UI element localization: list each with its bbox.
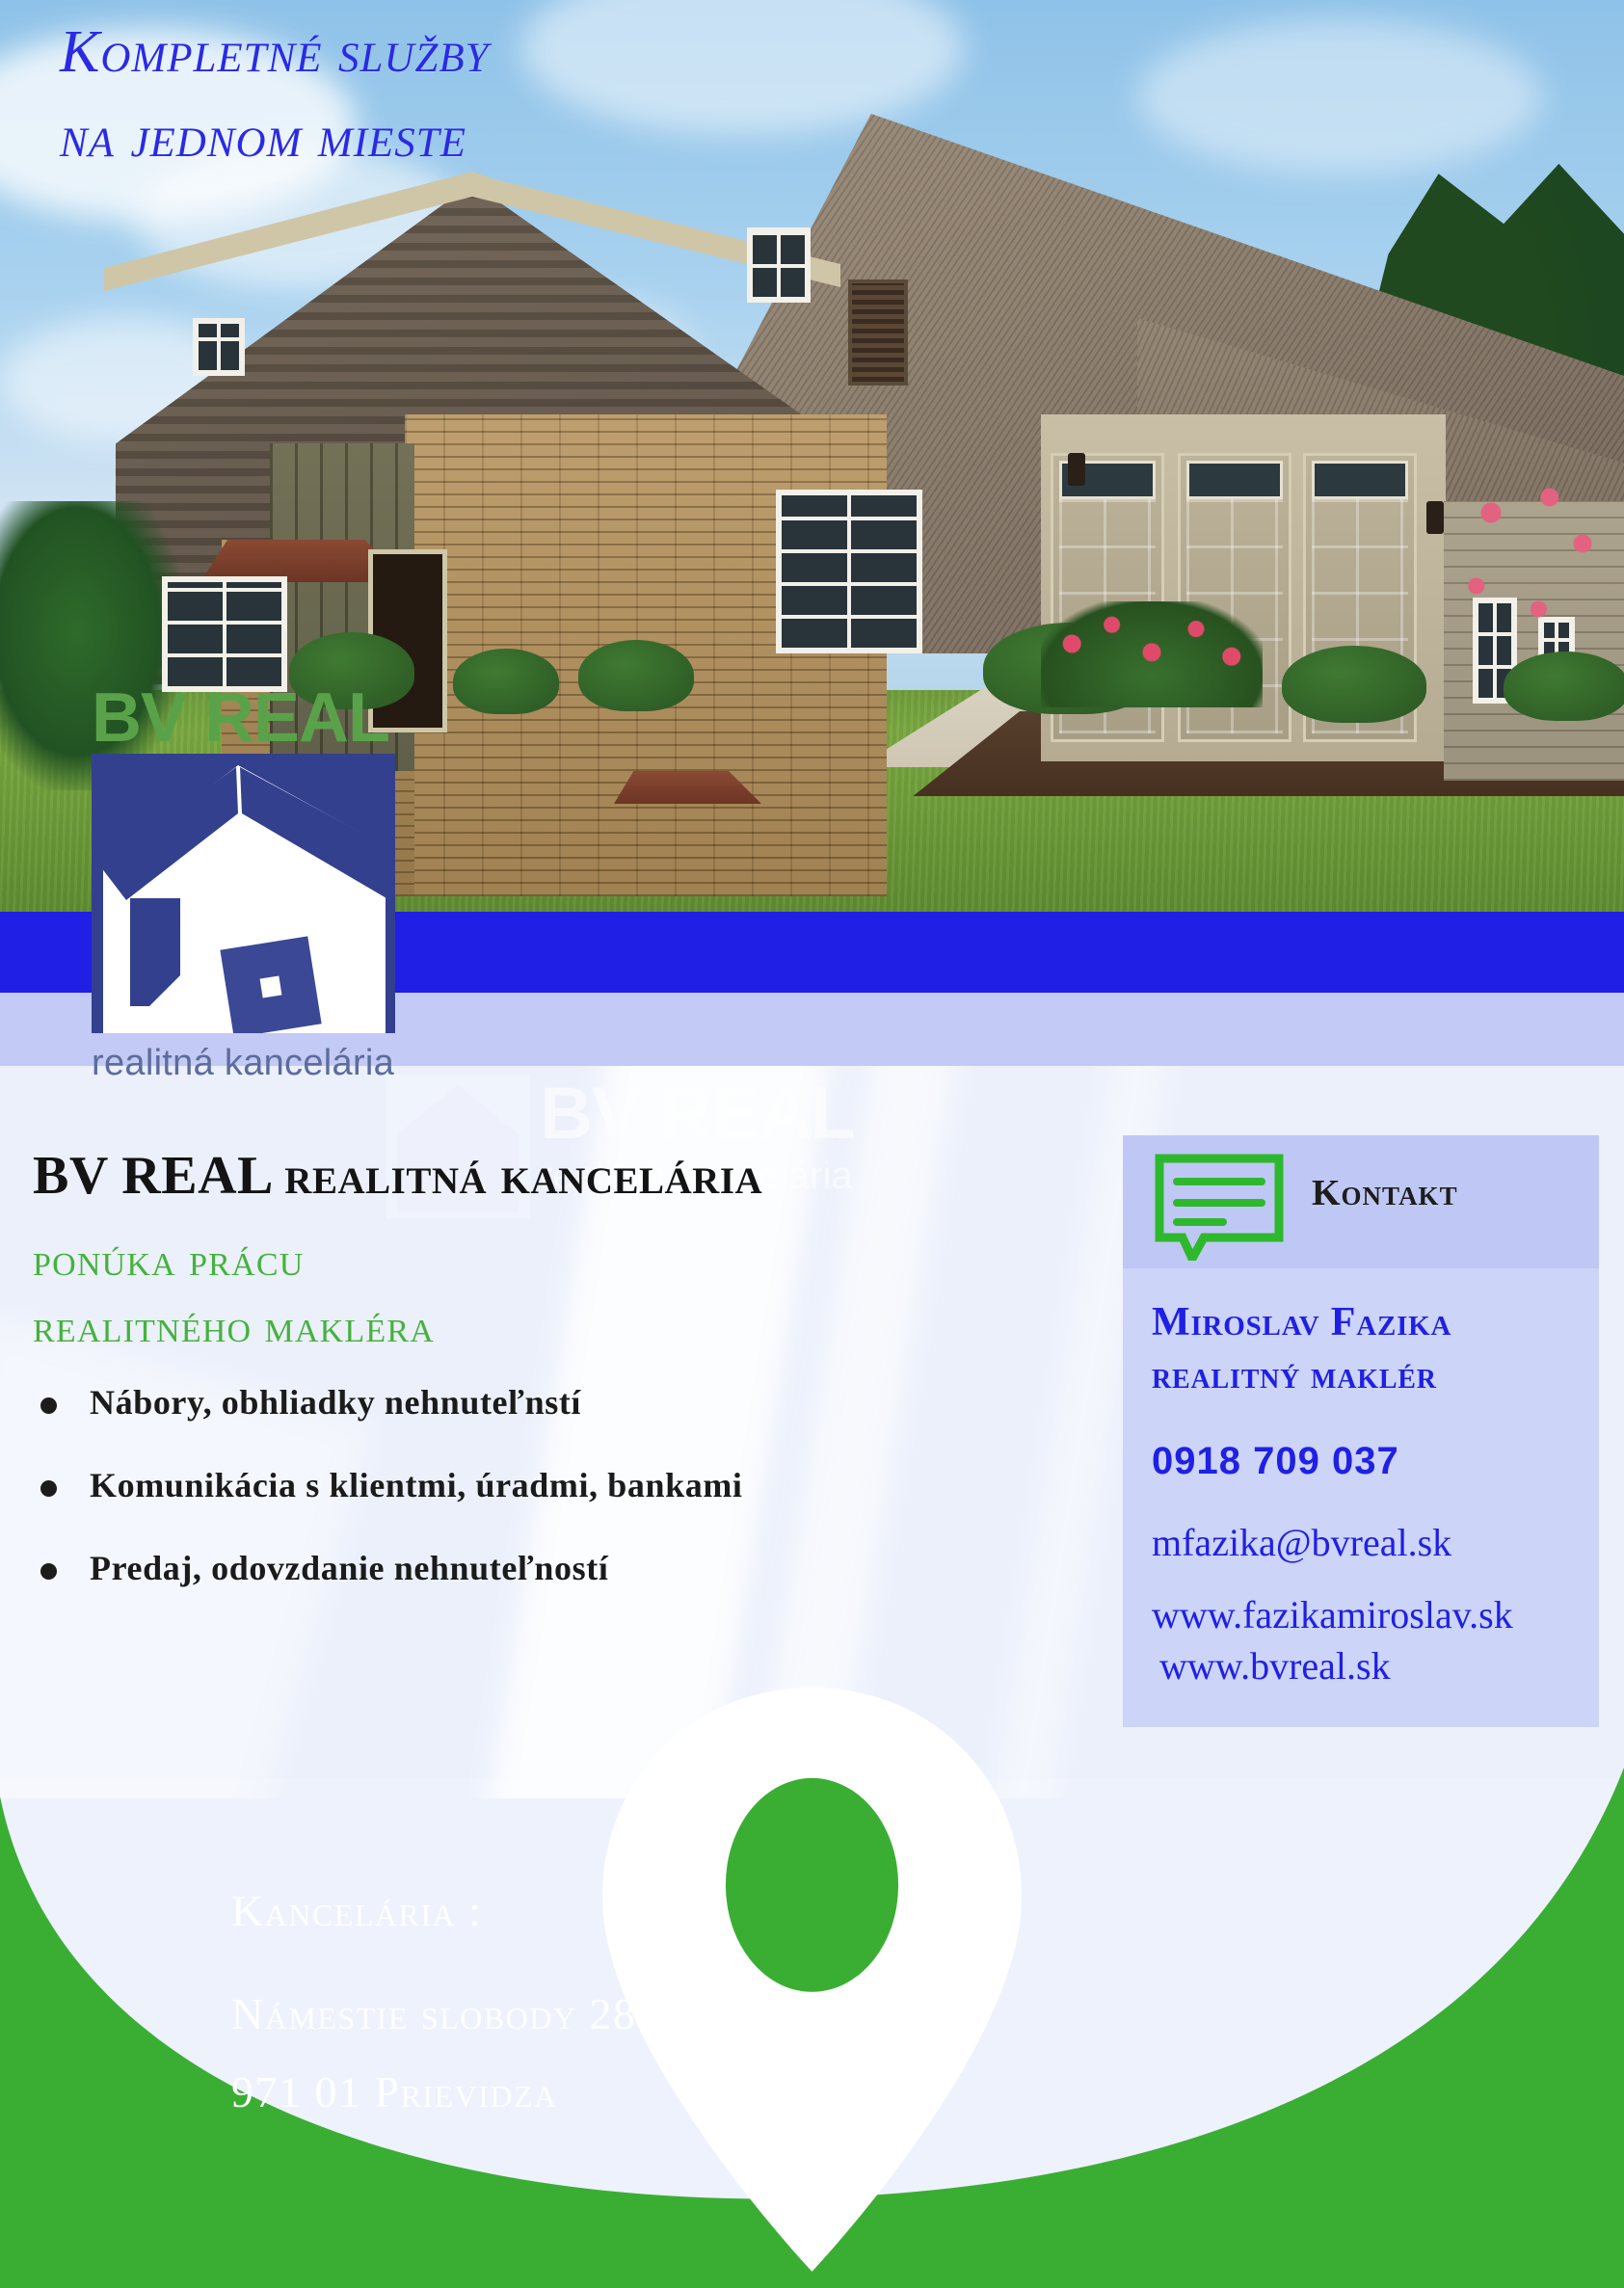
agent-website-2[interactable]: www.bvreal.sk	[1152, 1643, 1570, 1689]
list-item-label: Komunikácia s klientmi, úradmi, bankami	[90, 1465, 743, 1505]
garage-window	[1186, 461, 1283, 499]
office-street: Námestie slobody 28	[231, 1988, 637, 2039]
agent-role: realitný maklér	[1152, 1352, 1570, 1397]
logo-wordmark: BV REAL	[92, 686, 400, 750]
agent-phone[interactable]: 0918 709 037	[1152, 1440, 1570, 1483]
dormer-window	[193, 318, 245, 376]
offer-heading: BV REAL realitná kancelária	[33, 1147, 1103, 1207]
list-item: Nábory, obhliadky nehnuteľnstí	[33, 1382, 1103, 1423]
company-logo: BV REAL realitná kancelária	[92, 686, 400, 1084]
contact-card: Kontakt Miroslav Fazika realitný maklér …	[1123, 1135, 1599, 1727]
contact-card-header: Kontakt	[1123, 1135, 1599, 1268]
headline: Kompletné služby na jednom mieste	[60, 10, 490, 179]
duties-list: Nábory, obhliadky nehnuteľnstí Komunikác…	[33, 1382, 1103, 1588]
offer-line-1: ponúka prácu	[33, 1230, 1103, 1290]
agent-website-1[interactable]: www.fazikamiroslav.sk	[1152, 1592, 1570, 1637]
list-item: Komunikácia s klientmi, úradmi, bankami	[33, 1465, 1103, 1505]
list-item: Predaj, odovzdanie nehnuteľností	[33, 1548, 1103, 1588]
headline-line-1: Kompletné služby	[60, 10, 490, 94]
flyer-page: Kompletné služby na jednom mieste BV REA…	[0, 0, 1624, 2288]
cloud-shape	[1137, 19, 1542, 173]
cloud-shape	[520, 0, 964, 135]
agent-name: Miroslav Fazika	[1152, 1295, 1570, 1350]
offer-heading-strong: BV REAL	[33, 1146, 284, 1206]
logo-subtitle: realitná kancelária	[92, 1043, 400, 1084]
office-city: 971 01 Prievidza	[231, 2066, 637, 2117]
gable-vent	[848, 279, 908, 386]
offer-copy: BV REAL realitná kancelária ponúka prácu…	[33, 1147, 1103, 1631]
agent-email[interactable]: mfazika@bvreal.sk	[1152, 1520, 1570, 1565]
office-address: Kancelária : Námestie slobody 28 971 01 …	[231, 1885, 637, 2117]
front-window	[776, 490, 922, 653]
speech-bubble-icon	[1154, 1153, 1285, 1261]
list-item-label: Nábory, obhliadky nehnuteľnstí	[90, 1382, 581, 1423]
list-item-label: Predaj, odovzdanie nehnuteľností	[90, 1548, 608, 1588]
logo-house-icon	[92, 754, 395, 1033]
bullet-dot-icon	[40, 1563, 57, 1580]
contact-card-body: Miroslav Fazika realitný maklér 0918 709…	[1123, 1268, 1599, 1727]
attic-window	[747, 227, 811, 303]
rose-bush	[1041, 601, 1263, 707]
headline-line-2: na jednom mieste	[60, 94, 490, 179]
shrub	[1282, 646, 1426, 723]
office-label: Kancelária :	[231, 1885, 637, 1936]
footer: Kancelária : Námestie slobody 28 971 01 …	[0, 1671, 1624, 2288]
shrub	[453, 649, 559, 714]
bullet-dot-icon	[40, 1397, 57, 1414]
offer-heading-rest: realitná kancelária	[284, 1146, 762, 1206]
bay-window	[162, 576, 287, 692]
wall-lamp	[1068, 453, 1085, 486]
contact-title: Kontakt	[1312, 1172, 1458, 1214]
rose-bush	[1436, 478, 1619, 671]
offer-line-2: realitného makléra	[33, 1296, 1103, 1357]
house-mark-icon	[92, 754, 395, 1033]
bullet-dot-icon	[40, 1480, 57, 1497]
shrub	[578, 640, 694, 711]
garage-window	[1312, 461, 1408, 499]
